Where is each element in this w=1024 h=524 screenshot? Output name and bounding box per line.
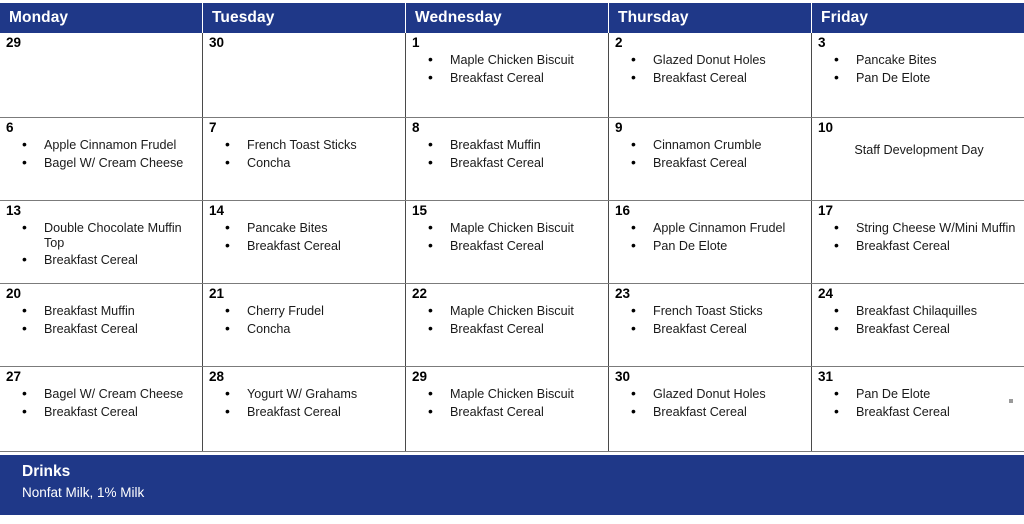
day-number: 6: [6, 120, 198, 135]
menu-item: French Toast Sticks: [631, 304, 807, 319]
menu-item-list: Double Chocolate Muffin TopBreakfast Cer…: [6, 221, 198, 268]
day-cell-9[interactable]: 9Cinnamon CrumbleBreakfast Cereal: [609, 118, 812, 200]
week-row: 6Apple Cinnamon FrudelBagel W/ Cream Che…: [0, 118, 1024, 201]
day-cell-30[interactable]: 30Glazed Donut HolesBreakfast Cereal: [609, 367, 812, 451]
menu-item: Breakfast Cereal: [834, 239, 1020, 254]
day-number: 28: [209, 369, 401, 384]
menu-item: Breakfast Cereal: [22, 253, 198, 268]
menu-item: Bagel W/ Cream Cheese: [22, 387, 198, 402]
menu-item: Glazed Donut Holes: [631, 53, 807, 68]
menu-item: Pan De Elote: [834, 387, 1020, 402]
menu-item: Pan De Elote: [834, 71, 1020, 86]
day-cell-6[interactable]: 6Apple Cinnamon FrudelBagel W/ Cream Che…: [0, 118, 203, 200]
drinks-items: Nonfat Milk, 1% Milk: [22, 483, 1024, 503]
day-cell-29[interactable]: 29: [0, 33, 203, 117]
menu-item: Breakfast Cereal: [631, 322, 807, 337]
day-number: 9: [615, 120, 807, 135]
menu-item-list: Breakfast ChilaquillesBreakfast Cereal: [818, 304, 1020, 336]
day-number: 15: [412, 203, 604, 218]
menu-item: Maple Chicken Biscuit: [428, 53, 604, 68]
day-cell-15[interactable]: 15Maple Chicken BiscuitBreakfast Cereal: [406, 201, 609, 283]
menu-item: Maple Chicken Biscuit: [428, 221, 604, 236]
menu-item: Breakfast Cereal: [631, 405, 807, 420]
menu-item: Breakfast Cereal: [22, 405, 198, 420]
day-cell-21[interactable]: 21Cherry FrudelConcha: [203, 284, 406, 366]
menu-item-list: Cherry FrudelConcha: [209, 304, 401, 336]
menu-item-list: Apple Cinnamon FrudelPan De Elote: [615, 221, 807, 253]
menu-item: Breakfast Cereal: [22, 322, 198, 337]
day-number: 13: [6, 203, 198, 218]
menu-item: String Cheese W/Mini Muffin: [834, 221, 1020, 236]
menu-item-list: Breakfast MuffinBreakfast Cereal: [412, 138, 604, 170]
weekday-header-thursday: Thursday: [609, 3, 812, 33]
day-number: 8: [412, 120, 604, 135]
day-cell-24[interactable]: 24Breakfast ChilaquillesBreakfast Cereal: [812, 284, 1024, 366]
day-cell-3[interactable]: 3Pancake BitesPan De Elote: [812, 33, 1024, 117]
day-cell-10[interactable]: 10Staff Development Day: [812, 118, 1024, 200]
day-number: 16: [615, 203, 807, 218]
menu-item-list: Cinnamon CrumbleBreakfast Cereal: [615, 138, 807, 170]
day-number: 2: [615, 35, 807, 50]
day-cell-31[interactable]: 31Pan De EloteBreakfast Cereal: [812, 367, 1024, 451]
day-cell-17[interactable]: 17String Cheese W/Mini MuffinBreakfast C…: [812, 201, 1024, 283]
menu-item: Pancake Bites: [225, 221, 401, 236]
menu-item-list: French Toast SticksBreakfast Cereal: [615, 304, 807, 336]
day-number: 22: [412, 286, 604, 301]
day-number: 24: [818, 286, 1020, 301]
scan-artifact: [1009, 399, 1013, 403]
menu-item: Yogurt W/ Grahams: [225, 387, 401, 402]
day-number: 30: [209, 35, 401, 50]
day-cell-30[interactable]: 30: [203, 33, 406, 117]
day-cell-8[interactable]: 8Breakfast MuffinBreakfast Cereal: [406, 118, 609, 200]
day-number: 21: [209, 286, 401, 301]
menu-item: Breakfast Cereal: [428, 239, 604, 254]
menu-item: Concha: [225, 322, 401, 337]
menu-item: Maple Chicken Biscuit: [428, 304, 604, 319]
day-number: 7: [209, 120, 401, 135]
menu-item: Cinnamon Crumble: [631, 138, 807, 153]
day-number: 23: [615, 286, 807, 301]
week-row: 20Breakfast MuffinBreakfast Cereal21Cher…: [0, 284, 1024, 367]
menu-item: Breakfast Cereal: [428, 71, 604, 86]
menu-item: Apple Cinnamon Frudel: [22, 138, 198, 153]
weekday-header-wednesday: Wednesday: [406, 3, 609, 33]
day-number: 1: [412, 35, 604, 50]
day-cell-28[interactable]: 28Yogurt W/ GrahamsBreakfast Cereal: [203, 367, 406, 451]
week-row: 13Double Chocolate Muffin TopBreakfast C…: [0, 201, 1024, 284]
menu-item: Breakfast Cereal: [834, 405, 1020, 420]
menu-item-list: Maple Chicken BiscuitBreakfast Cereal: [412, 53, 604, 85]
day-cell-23[interactable]: 23French Toast SticksBreakfast Cereal: [609, 284, 812, 366]
day-cell-7[interactable]: 7French Toast SticksConcha: [203, 118, 406, 200]
day-number: 27: [6, 369, 198, 384]
menu-item: Breakfast Chilaquilles: [834, 304, 1020, 319]
day-number: 3: [818, 35, 1020, 50]
menu-item: Double Chocolate Muffin Top: [22, 221, 198, 250]
menu-item-list: Pancake BitesPan De Elote: [818, 53, 1020, 85]
menu-item-list: Maple Chicken BiscuitBreakfast Cereal: [412, 304, 604, 336]
menu-item-list: Pancake BitesBreakfast Cereal: [209, 221, 401, 253]
menu-item: Breakfast Cereal: [225, 405, 401, 420]
day-number: 14: [209, 203, 401, 218]
menu-item-list: Breakfast MuffinBreakfast Cereal: [6, 304, 198, 336]
menu-item: Cherry Frudel: [225, 304, 401, 319]
day-number: 20: [6, 286, 198, 301]
day-number: 17: [818, 203, 1020, 218]
empty-day-body: [6, 50, 198, 51]
menu-item: Breakfast Cereal: [834, 322, 1020, 337]
menu-item: French Toast Sticks: [225, 138, 401, 153]
day-cell-29[interactable]: 29Maple Chicken BiscuitBreakfast Cereal: [406, 367, 609, 451]
day-number: 29: [412, 369, 604, 384]
day-cell-27[interactable]: 27Bagel W/ Cream CheeseBreakfast Cereal: [0, 367, 203, 451]
day-cell-1[interactable]: 1Maple Chicken BiscuitBreakfast Cereal: [406, 33, 609, 117]
day-cell-20[interactable]: 20Breakfast MuffinBreakfast Cereal: [0, 284, 203, 366]
day-number: 31: [818, 369, 1020, 384]
menu-item: Breakfast Cereal: [631, 156, 807, 171]
menu-item: Apple Cinnamon Frudel: [631, 221, 807, 236]
menu-item-list: Apple Cinnamon FrudelBagel W/ Cream Chee…: [6, 138, 198, 170]
week-row: 29301Maple Chicken BiscuitBreakfast Cere…: [0, 33, 1024, 118]
menu-item: Breakfast Cereal: [225, 239, 401, 254]
day-cell-2[interactable]: 2Glazed Donut HolesBreakfast Cereal: [609, 33, 812, 117]
day-number: 30: [615, 369, 807, 384]
menu-item: Glazed Donut Holes: [631, 387, 807, 402]
menu-item-list: Maple Chicken BiscuitBreakfast Cereal: [412, 221, 604, 253]
menu-calendar: MondayTuesdayWednesdayThursdayFriday 293…: [0, 3, 1024, 524]
menu-item: Breakfast Cereal: [428, 156, 604, 171]
day-cell-13[interactable]: 13Double Chocolate Muffin TopBreakfast C…: [0, 201, 203, 283]
weekday-header-row: MondayTuesdayWednesdayThursdayFriday: [0, 3, 1024, 33]
menu-item: Breakfast Cereal: [428, 322, 604, 337]
menu-item-list: Pan De EloteBreakfast Cereal: [818, 387, 1020, 419]
menu-item: Breakfast Muffin: [22, 304, 198, 319]
drinks-title: Drinks: [22, 461, 1024, 483]
menu-item: Concha: [225, 156, 401, 171]
day-number: 29: [6, 35, 198, 50]
day-number: 10: [818, 120, 1020, 135]
calendar-grid: 29301Maple Chicken BiscuitBreakfast Cere…: [0, 33, 1024, 452]
menu-item-list: Yogurt W/ GrahamsBreakfast Cereal: [209, 387, 401, 419]
day-special-note: Staff Development Day: [818, 141, 1020, 159]
menu-item-list: French Toast SticksConcha: [209, 138, 401, 170]
empty-day-body: [209, 50, 401, 51]
menu-item: Maple Chicken Biscuit: [428, 387, 604, 402]
day-cell-16[interactable]: 16Apple Cinnamon FrudelPan De Elote: [609, 201, 812, 283]
menu-item: Breakfast Cereal: [631, 71, 807, 86]
menu-item-list: Maple Chicken BiscuitBreakfast Cereal: [412, 387, 604, 419]
drinks-footer: Drinks Nonfat Milk, 1% Milk: [0, 455, 1024, 515]
menu-item: Breakfast Cereal: [428, 405, 604, 420]
menu-item-list: Bagel W/ Cream CheeseBreakfast Cereal: [6, 387, 198, 419]
weekday-header-monday: Monday: [0, 3, 203, 33]
menu-item-list: String Cheese W/Mini MuffinBreakfast Cer…: [818, 221, 1020, 253]
day-cell-22[interactable]: 22Maple Chicken BiscuitBreakfast Cereal: [406, 284, 609, 366]
day-cell-14[interactable]: 14Pancake BitesBreakfast Cereal: [203, 201, 406, 283]
weekday-header-tuesday: Tuesday: [203, 3, 406, 33]
weekday-header-friday: Friday: [812, 3, 1024, 33]
menu-item: Pancake Bites: [834, 53, 1020, 68]
week-row: 27Bagel W/ Cream CheeseBreakfast Cereal2…: [0, 367, 1024, 452]
menu-item: Bagel W/ Cream Cheese: [22, 156, 198, 171]
menu-item-list: Glazed Donut HolesBreakfast Cereal: [615, 387, 807, 419]
menu-item: Pan De Elote: [631, 239, 807, 254]
menu-item: Breakfast Muffin: [428, 138, 604, 153]
menu-item-list: Glazed Donut HolesBreakfast Cereal: [615, 53, 807, 85]
